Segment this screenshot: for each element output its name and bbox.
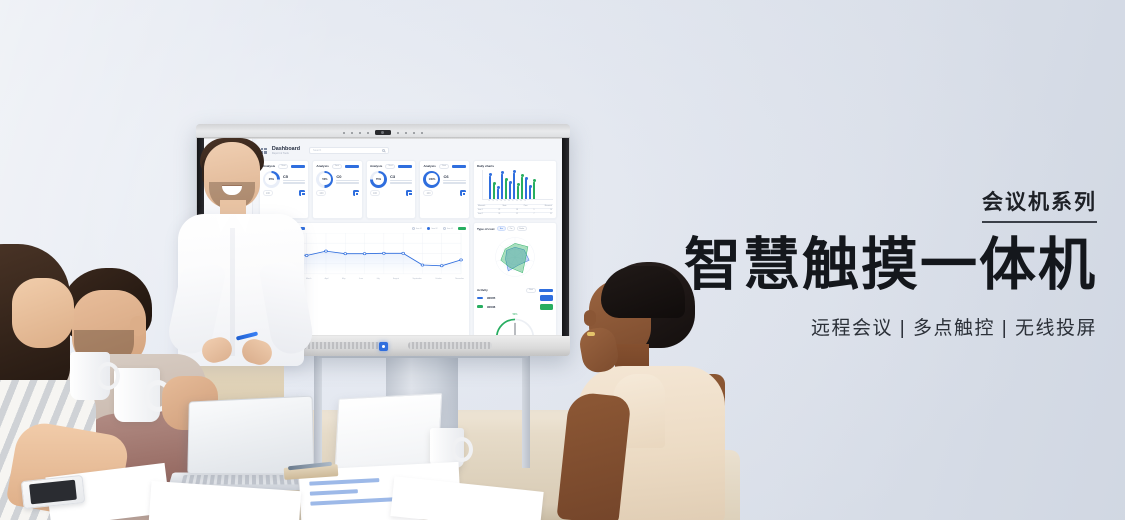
- legend-label: Item 03: [447, 228, 453, 230]
- banner-stage: Home Dashboard Admin Dashboard: [0, 0, 1125, 520]
- month-label: September: [412, 278, 421, 280]
- radar-card[interactable]: Type of cost BarPieRadar Activity: [473, 222, 557, 335]
- card-tag: Yest: [332, 164, 342, 169]
- daily-axis-label: 09: [520, 201, 522, 202]
- daily-bar: [489, 176, 491, 199]
- daily-bar: [497, 189, 499, 199]
- donut-value: 25%: [269, 178, 274, 181]
- segment-option[interactable]: Pie: [507, 226, 515, 231]
- kpi-card[interactable]: Analysis Yest 75% C3: [366, 160, 417, 219]
- kpi-body: 100% C6: [423, 171, 466, 188]
- donut-gauge: 100%: [423, 171, 440, 188]
- banner-copy: 会议机系列 智慧触摸一体机 远程会议 | 多点触控 | 无线投屏: [677, 186, 1097, 340]
- line-point: [421, 264, 424, 266]
- line-point: [324, 250, 327, 252]
- kpi-footer: 100: [370, 190, 413, 196]
- activity-action-pill[interactable]: [539, 289, 553, 292]
- kpi-value: 100: [370, 190, 380, 195]
- card-header: Analysis Yest: [316, 164, 359, 169]
- card-title: Analysis: [370, 164, 382, 168]
- legend[interactable]: Item 01 Item 02 Item 03: [412, 227, 467, 230]
- line-point: [440, 265, 443, 267]
- month-label: October: [435, 278, 442, 280]
- month-label: November: [455, 278, 464, 280]
- daily-bar: [529, 187, 531, 199]
- chart-type-segmented[interactable]: BarPieRadar: [497, 226, 526, 231]
- daily-bar-axis-x: 01020304050607080910: [482, 201, 553, 202]
- kpi-code: C3: [390, 174, 413, 179]
- placeholder-lines: [390, 180, 413, 184]
- camera-icon: [375, 130, 391, 135]
- coffee-mug: [114, 368, 160, 422]
- daily-axis-label: 02: [492, 201, 494, 202]
- search-placeholder: Search: [313, 149, 321, 152]
- kpi-footer: 100: [423, 190, 466, 196]
- daily-bar: [501, 174, 503, 199]
- status-badge: [477, 297, 483, 300]
- display-top-bezel: [196, 124, 570, 138]
- expand-icon[interactable]: [353, 190, 359, 196]
- line-point: [382, 252, 385, 254]
- card-title: Analysis: [423, 164, 435, 168]
- search-input[interactable]: Search: [309, 147, 389, 154]
- coffee-mug: [70, 352, 110, 400]
- daily-axis-label: 01: [488, 201, 490, 202]
- card-tag: Yest: [385, 164, 395, 169]
- banner-eyebrow: 会议机系列: [982, 186, 1097, 223]
- daily-axis-label: 05: [504, 201, 506, 202]
- activity-action-button[interactable]: [540, 304, 553, 310]
- legend-marker: [443, 227, 446, 230]
- kpi-body: 75% C3: [370, 171, 413, 188]
- attendee-left-face: [12, 278, 74, 348]
- activity-action-button[interactable]: [540, 295, 553, 301]
- card-title: Analysis: [316, 164, 328, 168]
- kpi-footer: 100: [316, 190, 359, 196]
- month-label: August: [393, 278, 399, 280]
- table-row: Item 23512721: [477, 212, 553, 216]
- activity-row[interactable]: 90005: [477, 295, 553, 301]
- activity-gauge: 50% 0% 100%: [477, 313, 553, 335]
- daily-axis-label: 03: [496, 201, 498, 202]
- segment-option[interactable]: Radar: [517, 226, 527, 231]
- daily-bar: [525, 179, 527, 199]
- banner-subline: 远程会议 | 多点触控 | 无线投屏: [677, 313, 1097, 340]
- banner-headline: 智慧触摸一体机: [677, 235, 1097, 297]
- card-header: Analysis Yest: [370, 164, 413, 169]
- attendee-hair-front: [601, 266, 685, 318]
- card-tag: Yest: [439, 164, 449, 169]
- legend-item[interactable]: Item 01: [412, 227, 423, 230]
- camera-array: [343, 130, 423, 135]
- card-title: Daily charts: [477, 164, 494, 168]
- kpi-value: 100: [316, 190, 326, 195]
- donut-gauge: 75%: [370, 171, 387, 188]
- placeholder-lines: [443, 180, 466, 184]
- placeholder-lines: [336, 180, 359, 184]
- gauge-svg: [477, 316, 553, 335]
- daily-bar: [533, 182, 535, 199]
- paper-chart-bar: [310, 497, 398, 506]
- daily-axis-label: 06: [508, 201, 510, 202]
- kpi-card[interactable]: Analysis Yest 100% C6: [419, 160, 470, 219]
- attendee-arm: [556, 391, 631, 520]
- daily-axis-label: 04: [500, 201, 502, 202]
- daily-bar: [517, 186, 519, 199]
- card-action-pill[interactable]: [398, 165, 412, 168]
- kpi-card[interactable]: Analysis Yest 50% C0: [312, 160, 363, 219]
- legend-marker: [427, 227, 430, 230]
- activity-tag: Yest: [526, 288, 536, 293]
- card-action-pill[interactable]: [345, 165, 359, 168]
- daily-axis-label: 07: [512, 201, 514, 202]
- kpi-text: C6: [443, 174, 466, 184]
- kpi-body: 50% C0: [316, 171, 359, 188]
- activity-label: 90005: [487, 296, 536, 300]
- line-point: [363, 252, 366, 254]
- status-badge: [477, 305, 483, 308]
- speaker-grille-right: [408, 342, 492, 349]
- expand-icon[interactable]: [406, 190, 412, 196]
- daily-bar: [513, 173, 515, 199]
- daily-axis-label: 08: [516, 201, 518, 202]
- paper-chart-bar: [310, 489, 358, 496]
- kpi-text: C3: [390, 174, 413, 184]
- power-indicator-icon[interactable]: [379, 342, 388, 351]
- card-header: Type of cost BarPieRadar: [477, 226, 553, 231]
- donut-gauge: 50%: [316, 171, 333, 188]
- legend-item[interactable]: Item 02: [427, 227, 438, 230]
- legend-label: Item 02: [432, 228, 438, 230]
- search-icon: [382, 149, 386, 153]
- card-title: Type of cost: [477, 227, 494, 231]
- daily-bar-chart: [482, 170, 553, 200]
- activity-header: Activity Yest: [477, 288, 553, 293]
- month-label: May: [342, 278, 346, 280]
- activity-label: 90036: [487, 305, 536, 309]
- kpi-code: C0: [336, 174, 359, 179]
- daily-axis-label: 10: [524, 201, 526, 202]
- display-stand-leg-right: [522, 356, 530, 468]
- legend-marker: [412, 227, 415, 230]
- daily-bar: [493, 184, 495, 199]
- paper-chart-bar: [309, 478, 379, 486]
- line-point: [344, 252, 347, 254]
- kpi-code: C6: [443, 174, 466, 179]
- speaker-grille-left: [300, 342, 384, 349]
- activity-title: Activity: [477, 288, 488, 292]
- donut-value: 75%: [376, 178, 381, 181]
- radar-chart-svg: [477, 233, 553, 281]
- legend-label: Item 01: [416, 228, 422, 230]
- card-header: Analysis Yest: [423, 164, 466, 169]
- line-point: [460, 259, 463, 261]
- daily-charts-toggle[interactable]: [458, 227, 466, 230]
- attendee-ring: [587, 332, 595, 336]
- legend-item[interactable]: Item 03: [443, 227, 454, 230]
- activity-row[interactable]: 90036: [477, 304, 553, 310]
- kpi-value: 100: [423, 190, 433, 195]
- laptop-lid: [187, 396, 314, 475]
- card-action-pill[interactable]: [452, 165, 466, 168]
- daily-bar: [505, 180, 507, 199]
- daily-charts-card[interactable]: Daily charts 01020304050607080910 Mismat…: [473, 160, 557, 219]
- line-point: [402, 252, 405, 254]
- month-label: July: [376, 278, 379, 280]
- donut-value: 50%: [322, 178, 327, 181]
- segment-option[interactable]: Bar: [497, 226, 505, 231]
- daily-bar: [509, 183, 511, 199]
- month-label: April: [325, 278, 329, 280]
- card-header: Daily charts: [477, 164, 553, 168]
- kpi-text: C0: [336, 174, 359, 184]
- expand-icon[interactable]: [460, 190, 466, 196]
- daily-mini-table: MismatchStatePassMismatchItem 12218914It…: [477, 204, 553, 215]
- donut-value: 100%: [429, 178, 436, 181]
- month-label: June: [359, 278, 363, 280]
- daily-bar: [521, 177, 523, 199]
